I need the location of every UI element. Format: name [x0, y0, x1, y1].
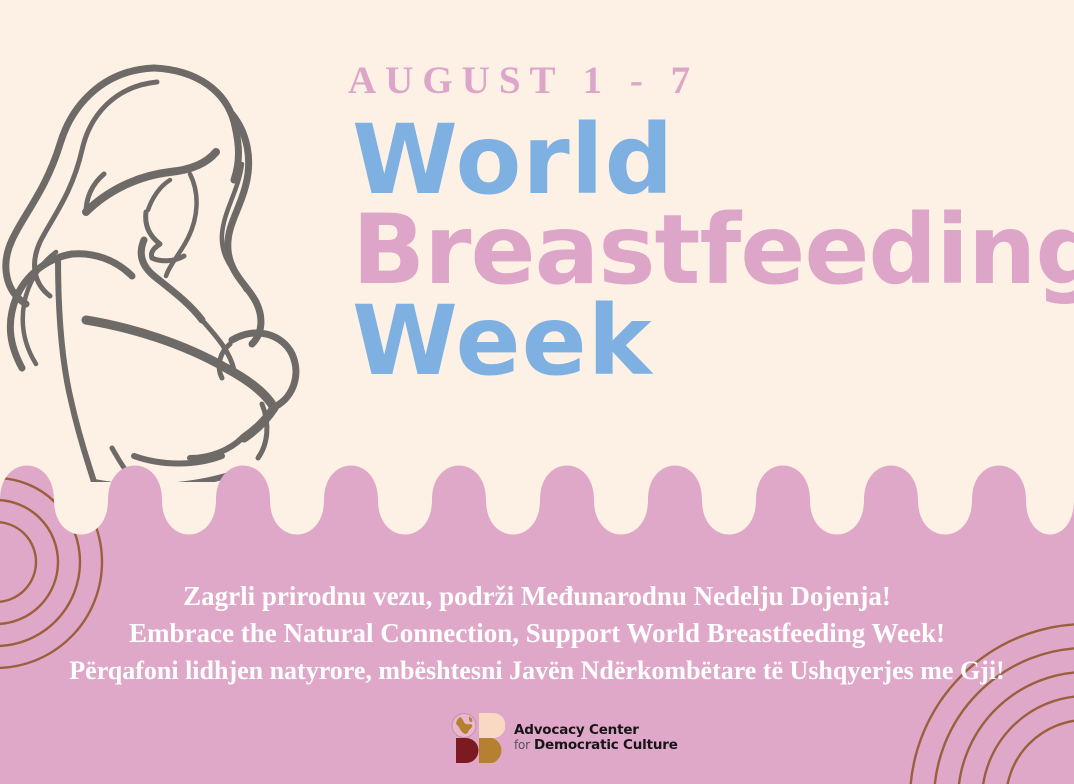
organization-logo: Advocacy Center for Democratic Culture [451, 713, 678, 763]
tagline-serbian: Zagrli prirodnu vezu, podrži Međunarodnu… [0, 578, 1074, 615]
logo-org-subtitle: for Democratic Culture [514, 738, 678, 753]
tagline-english: Embrace the Natural Connection, Support … [0, 615, 1074, 652]
logo-for-word: for [514, 738, 530, 752]
headline-line-world: World [352, 118, 1052, 202]
headline-line-breastfeeding: Breastfeeding [352, 208, 1052, 292]
headline-line-week: Week [352, 299, 1052, 383]
logo-org-name: Advocacy Center [514, 723, 678, 738]
event-date-label: AUGUST 1 - 7 [348, 58, 699, 103]
mother-and-child-illustration [0, 52, 334, 482]
page-title: World Breastfeeding Week [352, 118, 1052, 383]
logo-mark-icon [451, 713, 505, 763]
tagline-albanian: Përqafoni lidhjen natyrore, mbështesni J… [0, 653, 1074, 689]
tagline-block: Zagrli prirodnu vezu, podrži Međunarodnu… [0, 578, 1074, 688]
logo-text-block: Advocacy Center for Democratic Culture [514, 723, 678, 754]
logo-org-subtitle-bold: Democratic Culture [534, 737, 678, 753]
poster-canvas: AUGUST 1 - 7 World Breastfeeding Week Za… [0, 0, 1074, 784]
